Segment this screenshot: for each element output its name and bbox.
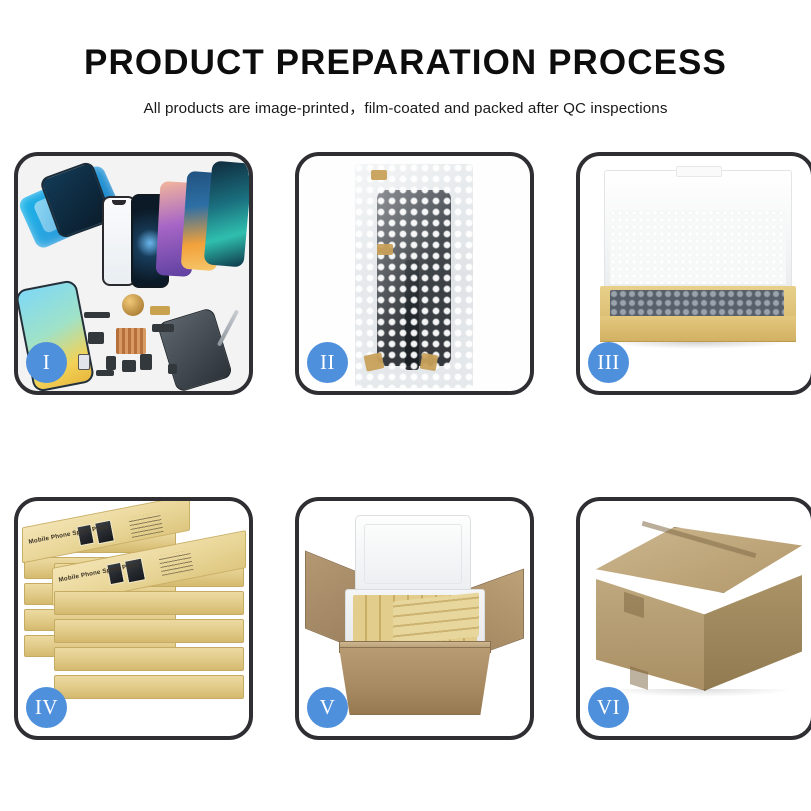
phone-teal-graphic	[204, 160, 249, 267]
kraft-box-front-graphic	[600, 316, 796, 342]
process-step-panel-1: I	[14, 152, 253, 395]
phone-back-housing-graphic	[157, 307, 234, 391]
part-chip	[106, 356, 116, 370]
tape-piece	[377, 244, 393, 255]
product-preparation-infographic: PRODUCT PREPARATION PROCESS All products…	[0, 0, 811, 811]
page-subtitle: All products are image-printed，film-coat…	[0, 96, 811, 118]
process-step-panel-2: II	[295, 152, 534, 395]
part-chip	[78, 354, 90, 370]
carton-right-face	[704, 575, 802, 691]
carton-left-face	[596, 579, 706, 691]
carton-front-graphic	[339, 647, 491, 715]
process-step-panel-4: Mobile Phone Spare Parts Mobile Phone Sp…	[14, 497, 253, 740]
box-shadow	[606, 342, 790, 349]
part-chip	[150, 306, 170, 315]
part-chip	[96, 370, 114, 376]
process-step-panel-5: V	[295, 497, 534, 740]
process-step-grid: I II	[14, 152, 800, 740]
part-chip	[122, 360, 136, 372]
stacked-box	[54, 591, 244, 615]
stacked-box	[54, 675, 244, 699]
carton-shadow	[604, 689, 794, 697]
step-badge-5: V	[307, 687, 348, 728]
step-badge-4: IV	[26, 687, 67, 728]
step-badge-3: III	[588, 342, 629, 383]
tape-piece	[371, 170, 387, 180]
header: PRODUCT PREPARATION PROCESS All products…	[0, 0, 811, 118]
part-chip	[168, 364, 177, 374]
part-chip	[84, 312, 110, 318]
stacked-box	[54, 647, 244, 671]
copper-grid-graphic	[116, 328, 146, 354]
part-chip	[152, 324, 174, 332]
process-step-panel-6: VI	[576, 497, 811, 740]
tweezers-graphic	[217, 309, 239, 346]
step-badge-2: II	[307, 342, 348, 383]
page-title: PRODUCT PREPARATION PROCESS	[0, 44, 811, 83]
step-badge-6: VI	[588, 687, 629, 728]
packed-boxes-graphic	[393, 592, 479, 645]
process-step-panel-3: III	[576, 152, 811, 395]
tape-piece	[420, 353, 439, 372]
foam-lid-graphic	[355, 515, 471, 593]
part-chip	[88, 332, 104, 344]
camera-module-graphic	[122, 294, 144, 316]
foam-sheet-graphic	[610, 210, 786, 284]
stacked-box	[54, 619, 244, 643]
part-chip	[140, 354, 152, 370]
step-badge-1: I	[26, 342, 67, 383]
